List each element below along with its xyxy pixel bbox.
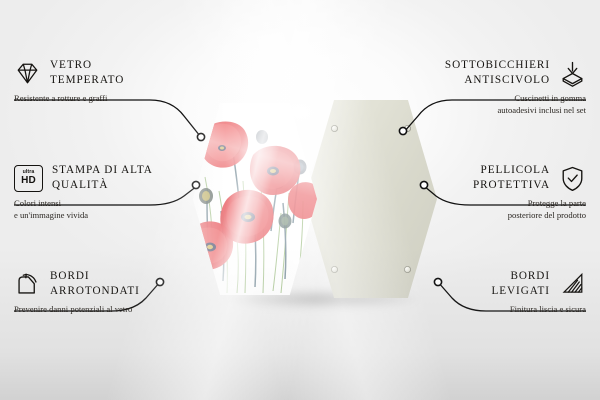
feature-sottobicchieri-antiscivolo: SOTTOBICCHIERI ANTISCIVOLO Cuscinetti in… <box>386 58 586 116</box>
feature-title: BORDI LEVIGATI <box>491 269 550 299</box>
connector-endpoint <box>197 133 204 140</box>
feature-bordi-arrotondati: BORDI ARROTONDATI Prevenire danni potenz… <box>14 269 214 316</box>
feature-heading: SOTTOBICCHIERI ANTISCIVOLO <box>386 58 586 88</box>
feature-title: STAMPA DI ALTA QUALITÀ <box>52 163 153 193</box>
ultra-hd-icon: ultra HD <box>14 165 43 192</box>
press-pad-icon <box>559 60 586 87</box>
feature-subtitle: Finitura liscia e sicura <box>386 304 586 316</box>
feature-title: VETRO TEMPERATO <box>50 58 124 88</box>
hatched-triangle-icon <box>559 271 586 298</box>
feature-subtitle: Prevenire danni potenziali al vetro <box>14 304 214 316</box>
feature-title: SOTTOBICCHIERI ANTISCIVOLO <box>445 58 550 88</box>
feature-heading: VETRO TEMPERATO <box>14 58 214 88</box>
ultra-hd-icon-main: HD <box>21 176 36 186</box>
connector-endpoint <box>399 127 406 134</box>
feature-pellicola-protettiva: PELLICOLA PROTETTIVA Protegge la parte p… <box>386 163 586 221</box>
feature-title: PELLICOLA PROTETTIVA <box>473 163 550 193</box>
feature-subtitle: Resistente a rotture e graffi <box>14 93 214 105</box>
feature-bordi-levigati: BORDI LEVIGATI Finitura liscia e sicura <box>386 269 586 316</box>
feature-heading: BORDI LEVIGATI <box>386 269 586 299</box>
feature-heading: PELLICOLA PROTETTIVA <box>386 163 586 193</box>
shield-check-icon <box>559 165 586 192</box>
feature-stampa-di-alta-qualita: ultra HD STAMPA DI ALTA QUALITÀ Colori i… <box>14 163 214 221</box>
feature-subtitle: Colori intensi e un'immagine vivida <box>14 198 214 221</box>
feature-heading: ultra HD STAMPA DI ALTA QUALITÀ <box>14 163 214 193</box>
feature-subtitle: Protegge la parte posteriore del prodott… <box>386 198 586 221</box>
feature-vetro-temperato: VETRO TEMPERATO Resistente a rotture e g… <box>14 58 214 105</box>
feature-title: BORDI ARROTONDATI <box>50 269 140 299</box>
feature-subtitle: Cuscinetti in gomma autoadesivi inclusi … <box>386 93 586 116</box>
feature-heading: BORDI ARROTONDATI <box>14 269 214 299</box>
rounded-corner-icon <box>14 271 41 298</box>
infographic-canvas: VETRO TEMPERATO Resistente a rotture e g… <box>0 0 600 400</box>
diamond-icon <box>14 60 41 87</box>
